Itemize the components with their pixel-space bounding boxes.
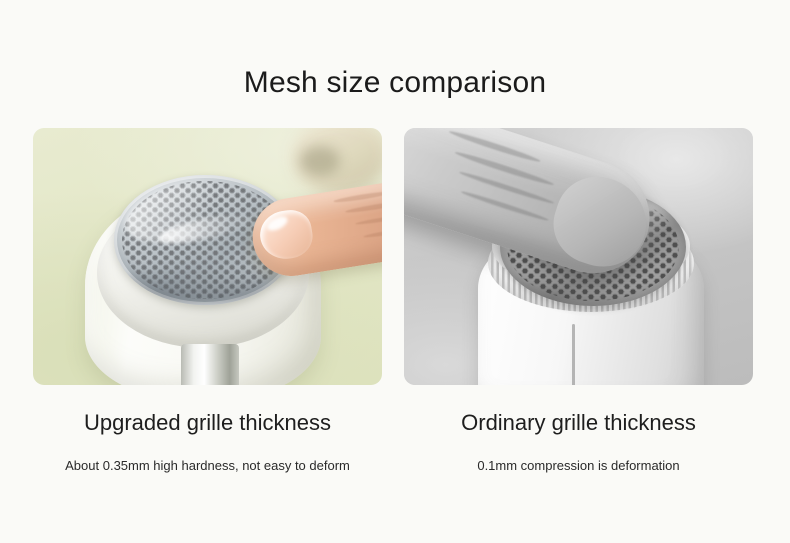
- comparison-item-ordinary: Ordinary grille thickness 0.1mm compress…: [404, 128, 753, 475]
- caption-upgraded: Upgraded grille thickness: [33, 409, 382, 437]
- lint-remover-shaft: [181, 344, 239, 385]
- upgraded-grille-photo: [33, 128, 382, 385]
- knuckle-crease: [345, 200, 382, 215]
- comparison-item-upgraded: Upgraded grille thickness About 0.35mm h…: [33, 128, 382, 475]
- knuckle-crease: [458, 170, 555, 206]
- lint-remover-seam: [572, 324, 575, 385]
- background-blur-object-secondary: [300, 146, 340, 176]
- ordinary-grille-photo: [404, 128, 753, 385]
- knuckle-crease: [363, 227, 382, 238]
- knuckle-crease: [454, 150, 555, 188]
- page-title: Mesh size comparison: [0, 64, 790, 102]
- knuckle-crease: [333, 190, 382, 204]
- fingernail: [257, 207, 316, 263]
- caption-ordinary: Ordinary grille thickness: [404, 409, 753, 437]
- knuckle-crease: [355, 213, 382, 226]
- subcaption-upgraded: About 0.35mm high hardness, not easy to …: [33, 457, 382, 475]
- mesh-shadow: [122, 263, 287, 303]
- subcaption-ordinary: 0.1mm compression is deformation: [404, 457, 753, 475]
- comparison-page: Mesh size comparison: [0, 0, 790, 543]
